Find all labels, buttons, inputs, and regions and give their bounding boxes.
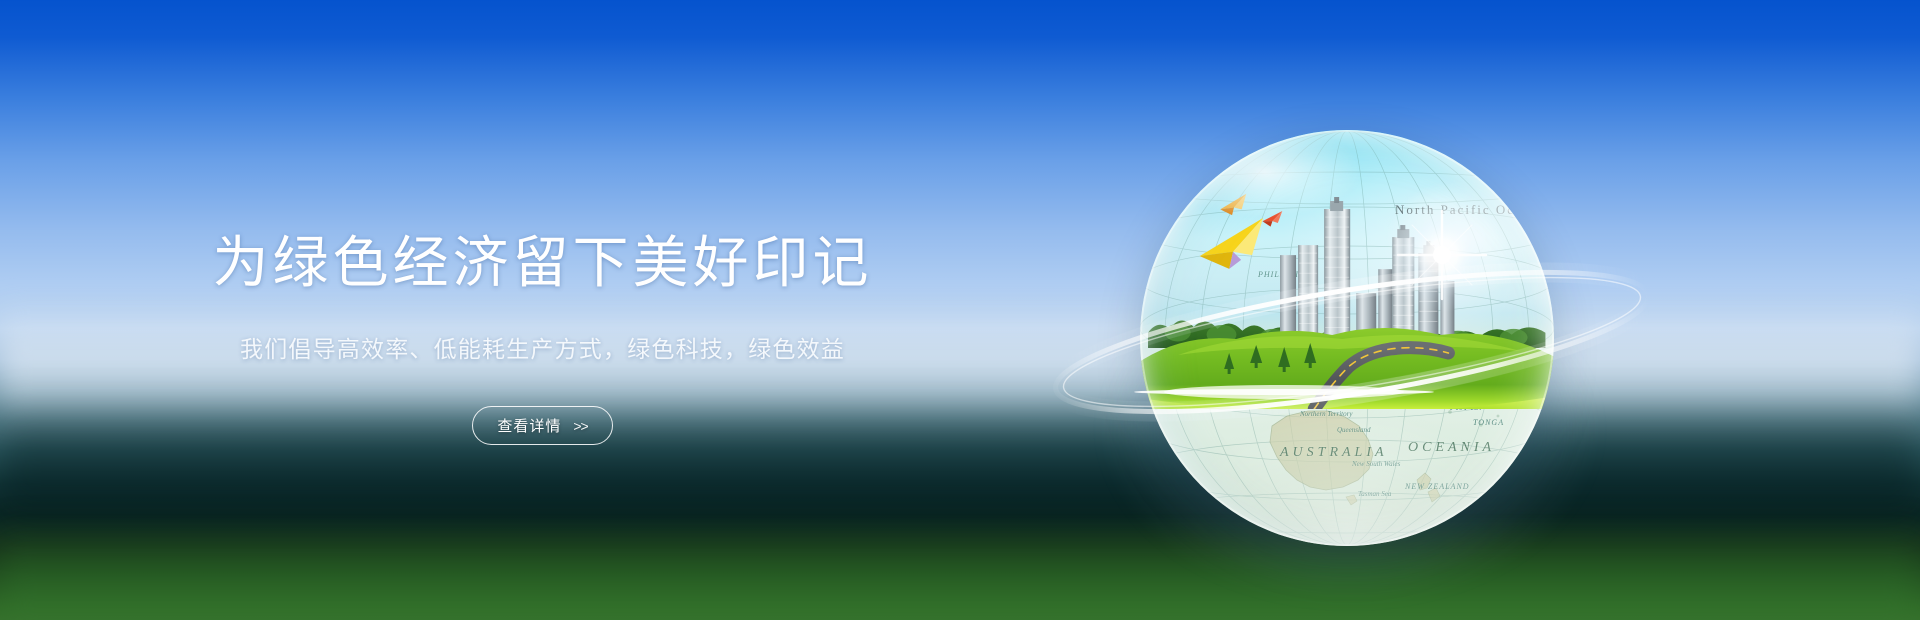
- hero-banner: 为绿色经济留下美好印记 我们倡导高效率、低能耗生产方式，绿色科技，绿色效益 查看…: [0, 0, 1920, 620]
- globe-sphere: North Pacific Ocean PHILIPPINES INDONESI…: [1140, 130, 1554, 546]
- banner-subheadline: 我们倡导高效率、低能耗生产方式，绿色科技，绿色效益: [0, 332, 1085, 366]
- paper-plane-orange-icon: [1218, 194, 1251, 218]
- chevron-right-icon: >>: [573, 418, 587, 434]
- paper-plane-yellow-icon: [1194, 218, 1272, 275]
- banner-copy: 为绿色经济留下美好印记 我们倡导高效率、低能耗生产方式，绿色科技，绿色效益 查看…: [0, 0, 1085, 620]
- eco-globe-graphic: North Pacific Ocean PHILIPPINES INDONESI…: [1140, 130, 1554, 546]
- view-details-label: 查看详情: [497, 415, 561, 436]
- view-details-button[interactable]: 查看详情 >>: [472, 406, 613, 445]
- green-island-graphic: [1140, 305, 1554, 409]
- paper-plane-red-icon: [1261, 211, 1285, 228]
- cta-container: 查看详情 >>: [0, 406, 1085, 445]
- banner-headline: 为绿色经济留下美好印记: [0, 231, 1085, 295]
